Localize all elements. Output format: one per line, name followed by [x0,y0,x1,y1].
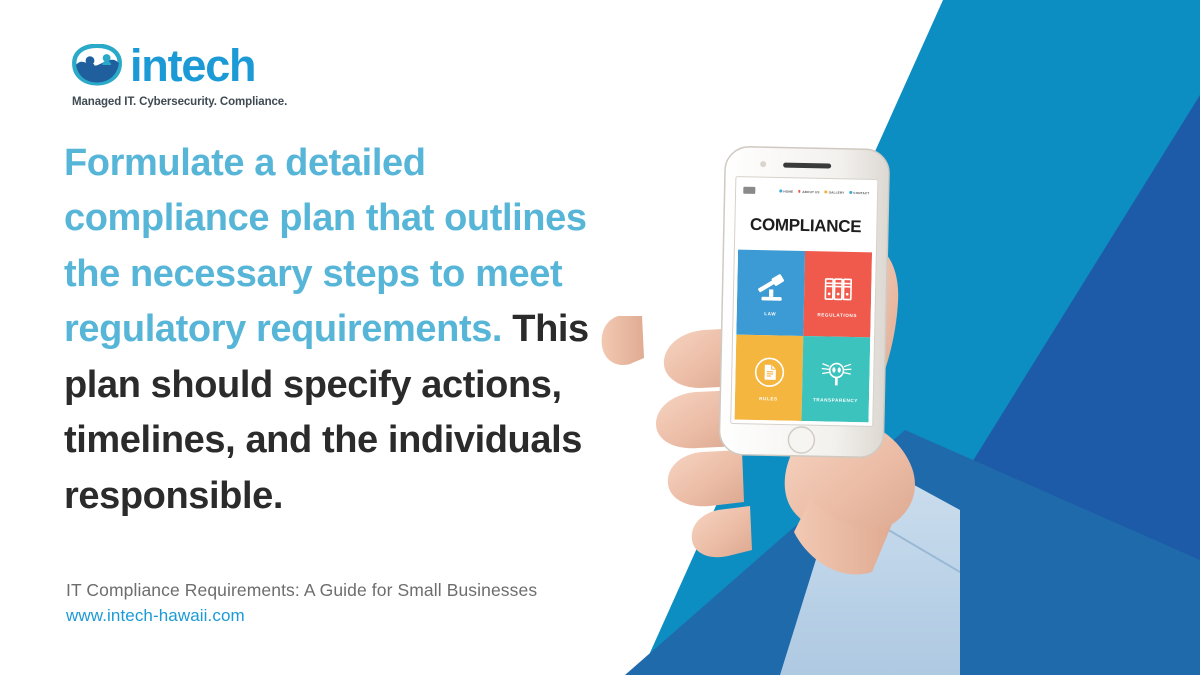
nav-dot-home [779,190,782,193]
gavel-icon [753,269,788,304]
nav-item-home[interactable]: HOME [779,189,793,193]
nav-item-about-us[interactable]: ABOUT US [798,189,819,193]
document-circle-icon [752,354,787,389]
nav-dot-contact [849,191,852,194]
brand-logo[interactable]: intech Managed IT. Cybersecurity. Compli… [70,40,370,108]
nav-label-gallery: GALLERY [829,190,845,194]
finger-tip-left [602,316,644,365]
article-title: IT Compliance Requirements: A Guide for … [66,580,666,601]
phone-in-hand-photo: HOME ABOUT US GALLERY CONTACT COMPLIANCE [600,120,960,675]
nav-dot-about-us [798,190,801,193]
nav-label-about-us: ABOUT US [802,189,819,193]
phone-earpiece-speaker [783,163,831,169]
screen-tile-grid: LAW REGULATIONS [735,250,873,423]
tile-transparency[interactable]: TRANSPARENCY [801,336,870,422]
nav-label-contact: CONTACT [853,191,869,195]
phone-home-button [788,427,815,454]
nav-items: HOME ABOUT US GALLERY CONTACT [779,189,869,195]
tile-law[interactable]: LAW [736,250,805,336]
tile-rules[interactable]: RULES [735,335,804,421]
logo-wordmark: intech [130,43,255,88]
phone-screen: HOME ABOUT US GALLERY CONTACT COMPLIANCE [735,181,874,423]
tile-label-rules: RULES [759,396,778,401]
logo-tagline: Managed IT. Cybersecurity. Compliance. [72,96,370,108]
nav-label-home: HOME [783,189,793,193]
footer-block: IT Compliance Requirements: A Guide for … [66,580,666,626]
binders-icon [820,271,855,306]
finger-pinky [692,506,752,557]
finger-ring [668,450,744,506]
tile-label-regulations: REGULATIONS [817,312,857,318]
screen-heading: COMPLIANCE [738,200,873,253]
nav-item-gallery[interactable]: GALLERY [825,190,845,194]
magnifier-eyes-icon [819,356,854,391]
site-logo-icon [743,187,755,194]
tile-label-law: LAW [764,311,776,316]
website-url[interactable]: www.intech-hawaii.com [66,606,666,626]
tile-label-transparency: TRANSPARENCY [813,397,858,403]
page-headline: Formulate a detailed compliance plan tha… [64,136,609,524]
tile-regulations[interactable]: REGULATIONS [803,251,872,337]
nav-item-contact[interactable]: CONTACT [849,190,869,194]
nav-dot-gallery [825,191,828,194]
wave-circle-people-icon [70,44,124,86]
